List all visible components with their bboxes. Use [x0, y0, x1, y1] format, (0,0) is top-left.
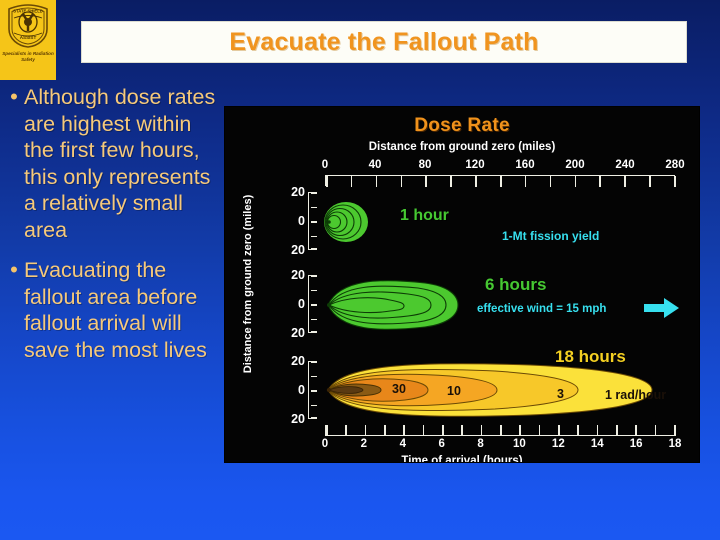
annotation-wind: effective wind = 15 mph — [477, 303, 606, 315]
axis-tick-label: 16 — [630, 438, 643, 450]
axis-tick-label: 8 — [477, 438, 483, 450]
axis-tick — [423, 425, 425, 436]
axis-tick — [450, 176, 452, 187]
svg-text:STATE SHIELD: STATE SHIELD — [13, 9, 43, 14]
axis-tick — [635, 425, 637, 436]
chart-y-axis-label: Distance from ground zero (miles) — [241, 159, 255, 409]
chart-bottom-axis-label: Time of arrival (hours) — [225, 455, 699, 462]
axis-tick — [558, 425, 560, 436]
y-tick-label: 20 — [291, 243, 305, 257]
list-item: • Evacuating the fallout area before fal… — [4, 257, 216, 363]
y-tick-label: 20 — [291, 354, 305, 368]
bullet-text: Evacuating the fallout area before fallo… — [24, 257, 216, 363]
wind-direction-arrow — [644, 297, 680, 319]
axis-tick-label: 18 — [669, 438, 682, 450]
page-title: Evacuate the Fallout Path — [229, 28, 538, 57]
dose-rate-chart: Dose Rate Distance from ground zero (mil… — [225, 107, 699, 462]
chart-title: Dose Rate — [225, 115, 699, 137]
axis-tick-label: 4 — [400, 438, 406, 450]
list-item: • Although dose rates are highest within… — [4, 84, 216, 243]
panel-label-1-hour: 1 hour — [400, 207, 449, 225]
y-tick-label: 20 — [291, 268, 305, 282]
organization-logo: STATE SHIELD ASSIST Specialists in Radia… — [0, 0, 56, 80]
axis-tick — [674, 425, 676, 436]
axis-tick-label: 200 — [565, 159, 584, 171]
axis-tick — [500, 425, 502, 436]
plume-6-hours — [320, 275, 470, 335]
y-tick-label: 0 — [298, 297, 305, 311]
axis-tick — [519, 425, 521, 436]
y-axis-panel-1: 20 0 20 — [283, 192, 317, 250]
axis-tick-label: 10 — [513, 438, 526, 450]
axis-tick-label: 280 — [665, 159, 684, 171]
y-axis-panel-3: 20 0 20 — [283, 361, 317, 419]
contour-label-30: 30 — [392, 382, 406, 396]
axis-tick — [365, 425, 367, 436]
y-tick-label: 20 — [291, 185, 305, 199]
contour-label-10: 10 — [447, 384, 461, 398]
bullet-text: Although dose rates are highest within t… — [24, 84, 216, 243]
panel-label-6-hours: 6 hours — [485, 275, 546, 295]
axis-tick — [425, 176, 427, 187]
axis-tick — [384, 425, 386, 436]
axis-tick — [475, 176, 477, 187]
y-tick-label: 0 — [298, 383, 305, 397]
annotation-yield: 1-Mt fission yield — [502, 229, 599, 243]
axis-tick-label: 80 — [419, 159, 432, 171]
axis-tick-label: 160 — [515, 159, 534, 171]
axis-tick-label: 120 — [465, 159, 484, 171]
bullet-list: • Although dose rates are highest within… — [4, 84, 216, 377]
axis-tick — [326, 176, 328, 187]
annotation-rad-per-hour: 1 rad/hour — [605, 388, 666, 402]
axis-tick — [351, 176, 353, 187]
axis-tick — [539, 425, 541, 436]
axis-tick-label: 6 — [438, 438, 444, 450]
bullet-marker: • — [4, 84, 24, 243]
title-bar: Evacuate the Fallout Path — [82, 22, 686, 62]
axis-tick — [550, 176, 552, 187]
y-tick-label: 0 — [298, 214, 305, 228]
axis-tick — [500, 176, 502, 187]
axis-tick-label: 12 — [552, 438, 565, 450]
axis-tick — [599, 176, 601, 187]
axis-tick — [442, 425, 444, 436]
contour-label-3: 3 — [557, 387, 564, 401]
bottom-axis-tick-labels: 024681012141618 — [325, 438, 675, 452]
axis-tick — [376, 176, 378, 187]
axis-tick — [616, 425, 618, 436]
axis-tick — [577, 425, 579, 436]
badge-icon: STATE SHIELD ASSIST — [5, 3, 51, 49]
y-tick-label: 20 — [291, 412, 305, 426]
axis-tick-label: 2 — [361, 438, 367, 450]
bottom-axis-ruler — [325, 425, 675, 436]
y-tick-label: 20 — [291, 326, 305, 340]
axis-tick — [401, 176, 403, 187]
svg-text:ASSIST: ASSIST — [20, 35, 37, 40]
axis-tick — [575, 176, 577, 187]
axis-tick — [525, 176, 527, 187]
axis-tick — [403, 425, 405, 436]
axis-tick — [655, 425, 657, 436]
axis-tick — [624, 176, 626, 187]
axis-tick-label: 40 — [369, 159, 382, 171]
top-axis-tick-labels: 04080120160200240280 — [325, 159, 675, 173]
y-axis-panel-2: 20 0 20 — [283, 275, 317, 333]
logo-caption: Specialists in Radiation Safety — [2, 51, 54, 63]
axis-tick — [326, 425, 328, 436]
axis-tick-label: 0 — [322, 438, 328, 450]
plume-1-hour — [320, 193, 390, 251]
axis-tick-label: 0 — [322, 159, 328, 171]
axis-tick — [649, 176, 651, 187]
axis-tick — [345, 425, 347, 436]
axis-tick — [461, 425, 463, 436]
bullet-marker: • — [4, 257, 24, 363]
axis-tick — [674, 176, 676, 187]
axis-tick — [481, 425, 483, 436]
axis-tick-label: 240 — [615, 159, 634, 171]
axis-tick — [597, 425, 599, 436]
chart-top-axis-label: Distance from ground zero (miles) — [225, 141, 699, 153]
axis-tick-label: 14 — [591, 438, 604, 450]
top-axis-ruler — [325, 175, 675, 186]
